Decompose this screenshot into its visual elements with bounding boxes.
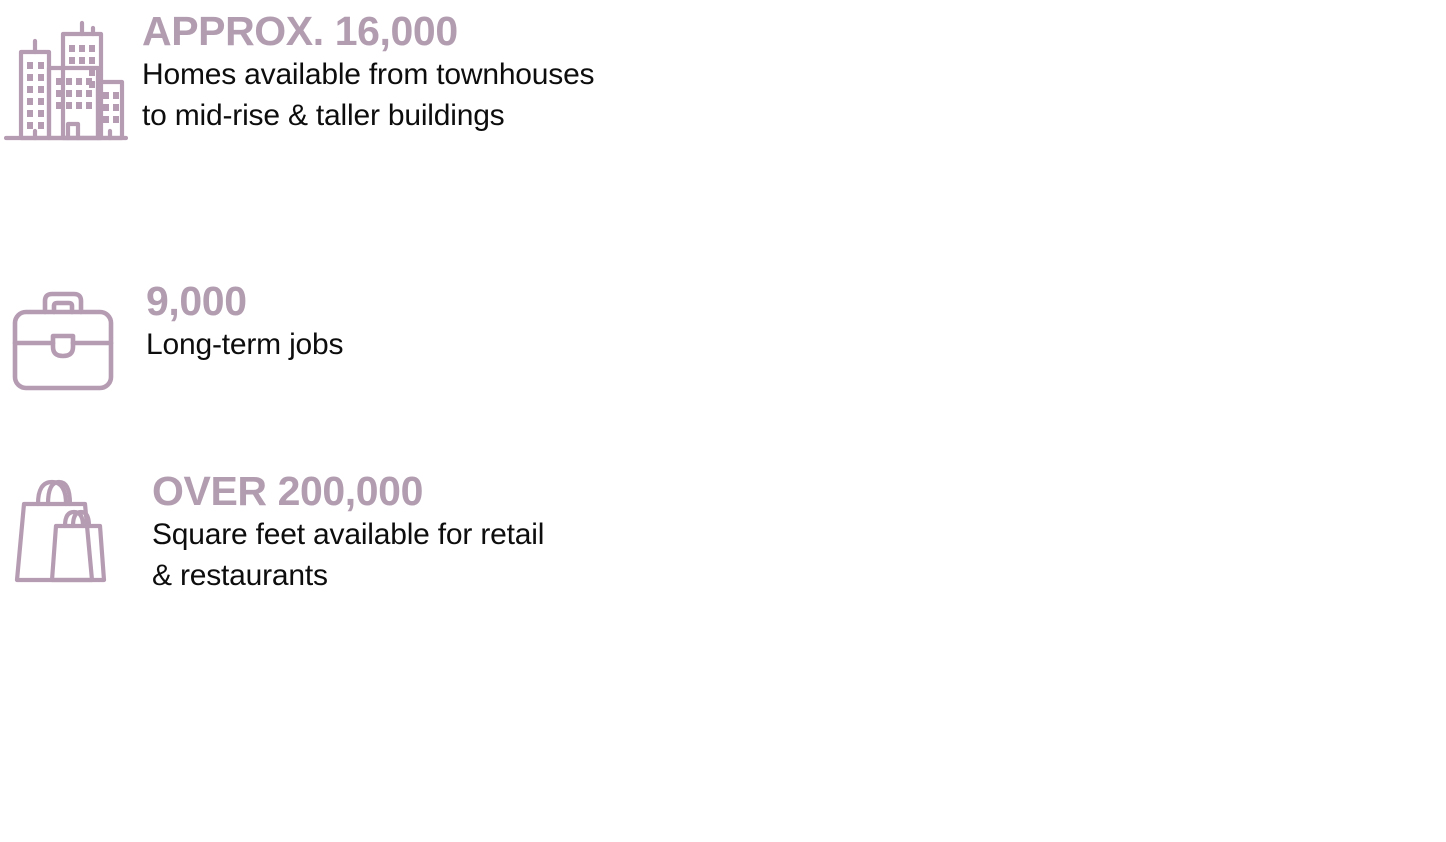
city-buildings-icon bbox=[4, 6, 142, 145]
stat-card-acres: 10–12 Acres available for campus, cultur… bbox=[800, 460, 1446, 654]
stat-card-jobs: 9,000 Long-term jobs bbox=[0, 230, 800, 460]
stat-headline: APPROX. 16,000 bbox=[142, 8, 800, 54]
stat-description: Long-term jobs bbox=[146, 324, 800, 365]
stat-text-group: OVER 200,000 Square feet available for r… bbox=[152, 468, 800, 596]
stat-card-retail: OVER 200,000 Square feet available for r… bbox=[0, 460, 800, 654]
briefcase-icon bbox=[8, 278, 146, 396]
shopping-bags-icon bbox=[14, 468, 152, 588]
stat-text-group: APPROX. 16,000 Homes available from town… bbox=[142, 6, 800, 136]
stat-headline: OVER 200,000 bbox=[152, 468, 800, 514]
stat-card-office: 1,900,000 Square feet available for offi… bbox=[800, 230, 1446, 460]
stat-description: Homes available from townhouses to mid-r… bbox=[142, 54, 800, 136]
stat-card-homes: APPROX. 16,000 Homes available from town… bbox=[0, 0, 800, 230]
stat-headline: 9,000 bbox=[146, 278, 800, 324]
statistics-grid: APPROX. 16,000 Homes available from town… bbox=[0, 0, 1446, 654]
stat-card-residents: 28,000 – 40,000 The anticipated number o… bbox=[800, 0, 1446, 230]
stat-description: Square feet available for retail & resta… bbox=[152, 514, 800, 596]
stat-text-group: 9,000 Long-term jobs bbox=[146, 278, 800, 365]
